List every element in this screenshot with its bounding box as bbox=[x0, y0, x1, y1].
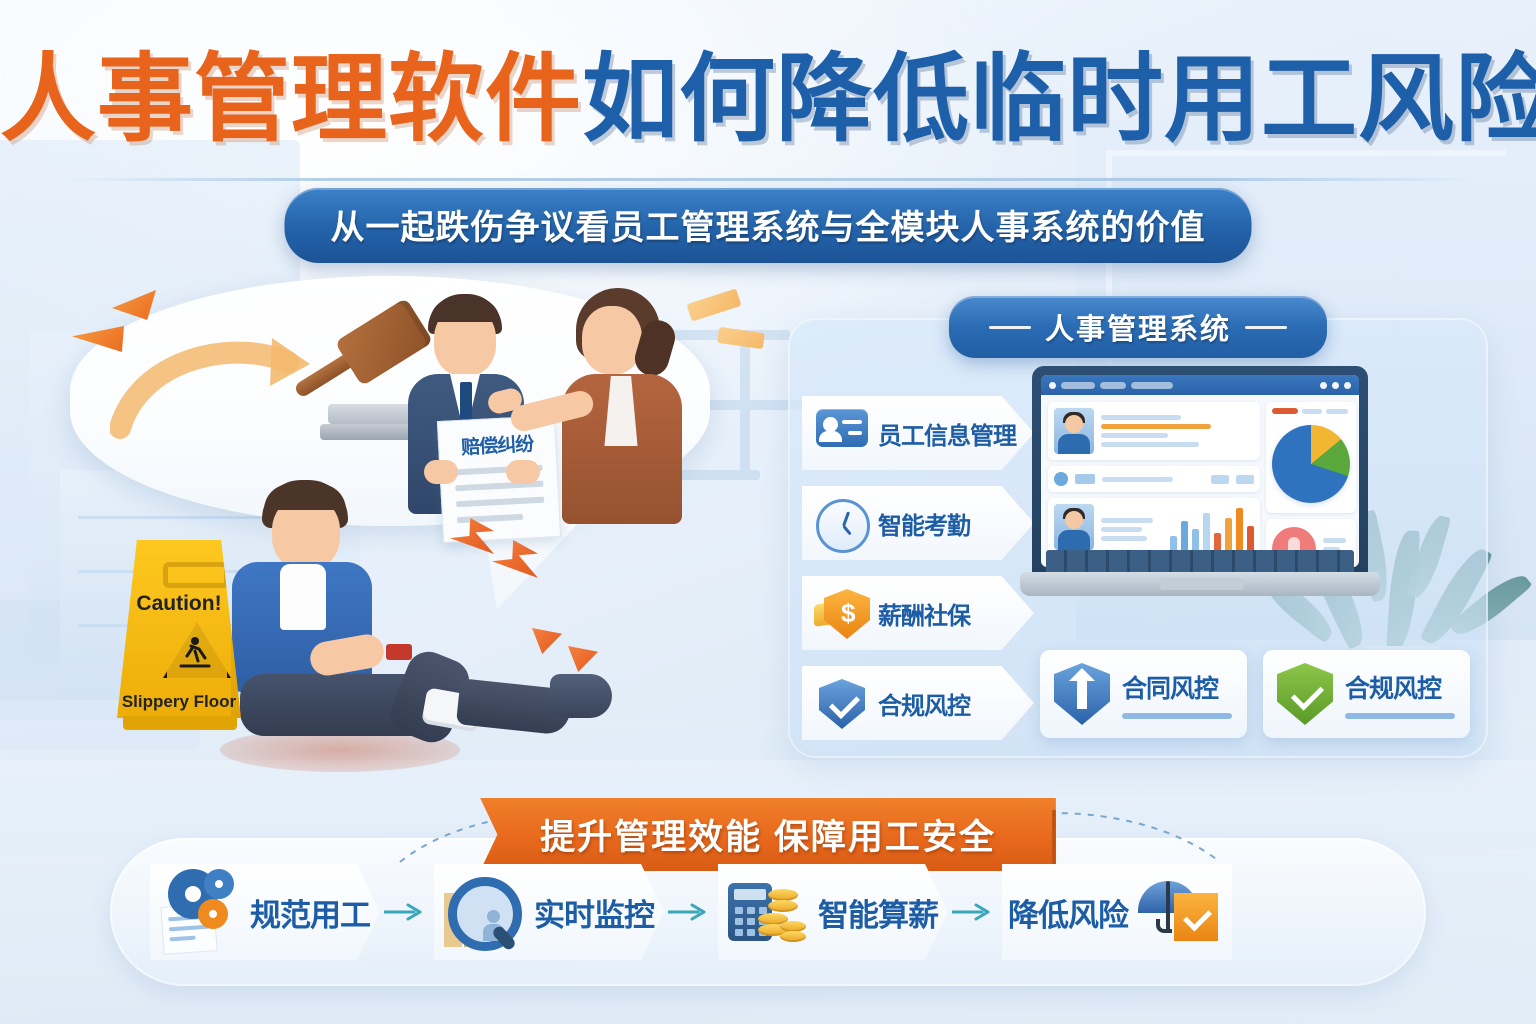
employee-record-card bbox=[1048, 402, 1260, 460]
module-chip-label: 智能考勤 bbox=[878, 506, 970, 541]
step-realtime-monitoring[interactable]: 实时监控 bbox=[434, 864, 664, 960]
badge-underline bbox=[1122, 713, 1232, 719]
slip-hazard-icon bbox=[163, 622, 231, 678]
process-step-list: 规范用工 实时监控 bbox=[150, 858, 1390, 966]
module-chip-payroll[interactable]: $ 薪酬社保 bbox=[802, 576, 1034, 650]
caution-line-2: Slippery Floor bbox=[117, 692, 241, 712]
umbrella-shield-icon bbox=[1136, 869, 1222, 955]
caution-line-1: Caution! bbox=[117, 592, 241, 616]
step-label: 智能算薪 bbox=[818, 890, 938, 935]
badge-label: 合同风控 bbox=[1122, 669, 1232, 705]
step-label: 规范用工 bbox=[250, 890, 370, 935]
sign-handle bbox=[163, 562, 229, 588]
laptop-dashboard bbox=[1020, 366, 1380, 616]
magnifier-person-icon bbox=[440, 869, 526, 955]
avatar bbox=[1054, 504, 1094, 550]
step-label: 降低风险 bbox=[1008, 890, 1128, 935]
title-divider bbox=[60, 178, 1476, 181]
clock-icon bbox=[816, 499, 868, 547]
laptop-trackpad bbox=[1160, 578, 1244, 590]
module-chip-employee-info[interactable]: 员工信息管理 bbox=[802, 396, 1034, 470]
panel-header-label: 人事管理系统 bbox=[1045, 306, 1231, 348]
pain-burst-icon bbox=[492, 540, 538, 578]
panel-header: 人事管理系统 bbox=[949, 296, 1327, 358]
step-label: 实时监控 bbox=[534, 890, 654, 935]
arrow-right-icon bbox=[664, 902, 718, 922]
shield-check-green-icon bbox=[1277, 663, 1333, 725]
badge-label: 合规风控 bbox=[1345, 669, 1455, 705]
calculator-coins-icon bbox=[724, 869, 810, 955]
header-rule-left bbox=[989, 326, 1031, 329]
dashboard-window-bar bbox=[1041, 375, 1359, 395]
id-card-icon bbox=[816, 409, 868, 457]
title-orange: 人事管理软件 bbox=[0, 46, 582, 153]
badge-compliance-risk[interactable]: 合规风控 bbox=[1263, 650, 1470, 738]
step-standard-employment[interactable]: 规范用工 bbox=[150, 864, 380, 960]
step-smart-payroll[interactable]: 智能算薪 bbox=[718, 864, 948, 960]
gears-document-icon bbox=[156, 869, 242, 955]
risk-badge-list: 合同风控 合规风控 bbox=[1040, 650, 1470, 738]
title-blue: 如何降低临时用工风险 bbox=[582, 46, 1536, 153]
subtitle-banner: 从一起跌伤争议看员工管理系统与全模块人事系统的价值 bbox=[285, 188, 1252, 263]
dashboard-filter-row bbox=[1048, 466, 1260, 492]
pain-burst-icon bbox=[568, 646, 598, 672]
module-chip-label: 员工信息管理 bbox=[878, 416, 1016, 451]
badge-underline bbox=[1345, 713, 1455, 719]
bar-chart-bars bbox=[1166, 504, 1254, 550]
caution-sign: Caution! Slippery Floor bbox=[105, 530, 265, 730]
money-shield-icon: $ bbox=[816, 589, 868, 637]
module-chip-compliance[interactable]: 合规风控 bbox=[802, 666, 1034, 740]
pain-burst-icon bbox=[532, 628, 562, 654]
header-rule-right bbox=[1245, 326, 1287, 329]
module-chip-attendance[interactable]: 智能考勤 bbox=[802, 486, 1034, 560]
arrow-right-icon bbox=[380, 902, 434, 922]
module-chip-list: 员工信息管理 智能考勤 $ bbox=[802, 396, 1034, 756]
pain-burst-icon bbox=[450, 518, 494, 554]
hr-system-panel: 人事管理系统 员工信息管理 智能考勤 bbox=[788, 318, 1488, 758]
left-illustration-scene: 赔偿纠纷 bbox=[50, 268, 770, 798]
module-chip-label: 合规风控 bbox=[878, 686, 970, 721]
shield-check-icon bbox=[816, 679, 868, 727]
step-reduce-risk[interactable]: 降低风险 bbox=[1002, 864, 1232, 960]
avatar bbox=[1054, 408, 1094, 454]
badge-contract-risk[interactable]: 合同风控 bbox=[1040, 650, 1247, 738]
shield-arrow-up-icon bbox=[1054, 663, 1110, 725]
dashboard-pie-panel bbox=[1266, 402, 1356, 513]
injured-worker-illustration bbox=[210, 478, 630, 778]
pie-chart bbox=[1272, 425, 1350, 503]
page-title: 人事管理软件如何降低临时用工风险 bbox=[0, 52, 1536, 148]
arrow-right-icon bbox=[948, 902, 1002, 922]
infographic-poster: 人事管理软件如何降低临时用工风险 从一起跌伤争议看员工管理系统与全模块人事系统的… bbox=[0, 0, 1536, 1024]
module-chip-label: 薪酬社保 bbox=[878, 596, 970, 631]
